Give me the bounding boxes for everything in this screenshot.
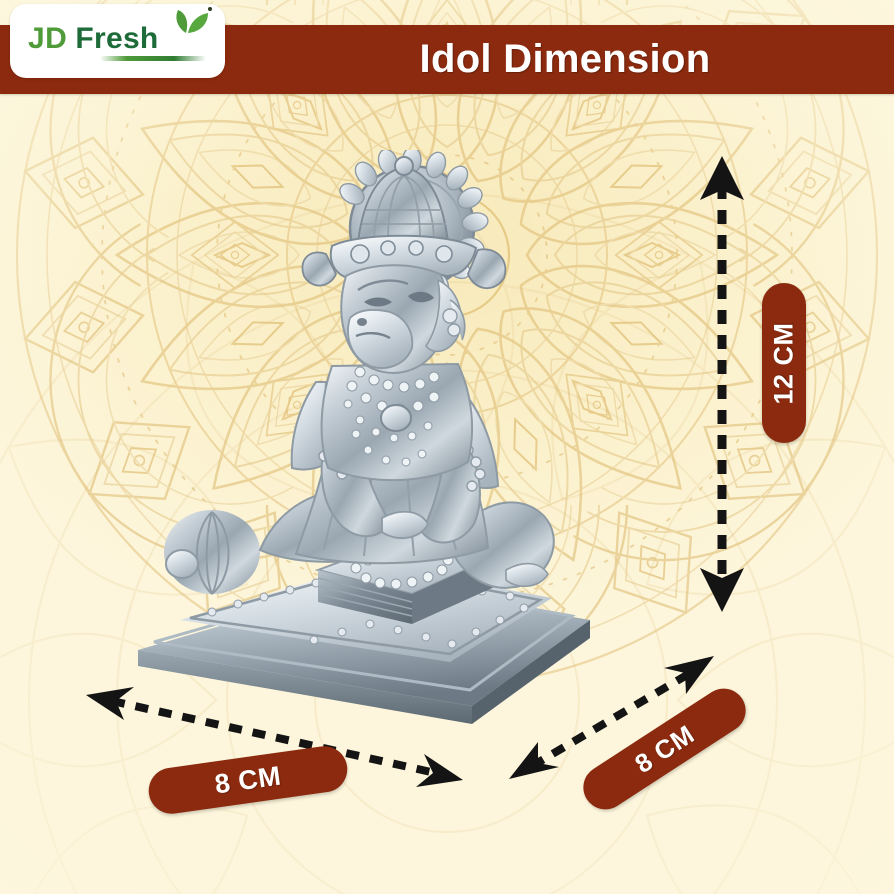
mace-gada <box>164 510 260 594</box>
brand-logo[interactable]: JD Fresh <box>10 4 225 78</box>
width-value: 8 CM <box>213 760 283 800</box>
leaf-icon <box>162 6 214 34</box>
logo-fresh-text: Fresh <box>75 22 158 56</box>
dimension-label-height: 12 CM <box>762 283 806 443</box>
infographic-canvas: Idol Dimension JD Fresh <box>0 0 894 894</box>
logo-wordmark: JD Fresh <box>28 22 159 56</box>
logo-inner: JD Fresh <box>10 4 225 78</box>
logo-underline <box>100 56 206 61</box>
idol-torso <box>322 364 472 480</box>
hanuman-idol-image <box>120 150 700 750</box>
logo-jd-text: JD <box>28 22 67 56</box>
height-value: 12 CM <box>769 322 800 404</box>
page-title: Idol Dimension <box>236 25 894 94</box>
